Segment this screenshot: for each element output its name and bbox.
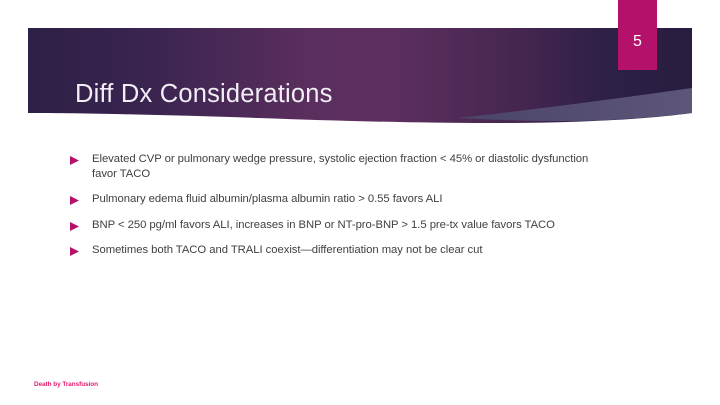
footer-note: Death by Transfusion [34,381,98,388]
triangle-right-bullet-icon [70,218,92,231]
slide-number-tab: 5 [618,0,657,70]
triangle-right-bullet-icon [70,192,92,205]
bullet-list: Elevated CVP or pulmonary wedge pressure… [70,152,600,258]
title-banner: Diff Dx Considerations [28,28,692,124]
list-item: BNP < 250 pg/ml favors ALI, increases in… [70,218,600,233]
list-item-text: BNP < 250 pg/ml favors ALI, increases in… [92,218,600,233]
list-item: Sometimes both TACO and TRALI coexist—di… [70,243,600,258]
list-item-text: Elevated CVP or pulmonary wedge pressure… [92,152,600,182]
list-item: Pulmonary edema fluid albumin/plasma alb… [70,192,600,207]
list-item-text: Pulmonary edema fluid albumin/plasma alb… [92,192,600,207]
slide-number: 5 [618,0,657,70]
list-item: Elevated CVP or pulmonary wedge pressure… [70,152,600,182]
page-title: Diff Dx Considerations [75,80,595,109]
triangle-right-bullet-icon [70,243,92,256]
list-item-text: Sometimes both TACO and TRALI coexist—di… [92,243,600,258]
presentation-slide: Diff Dx Considerations 5 Elevated CVP or… [0,0,720,405]
triangle-right-bullet-icon [70,152,92,165]
title-banner-shape [28,28,692,124]
